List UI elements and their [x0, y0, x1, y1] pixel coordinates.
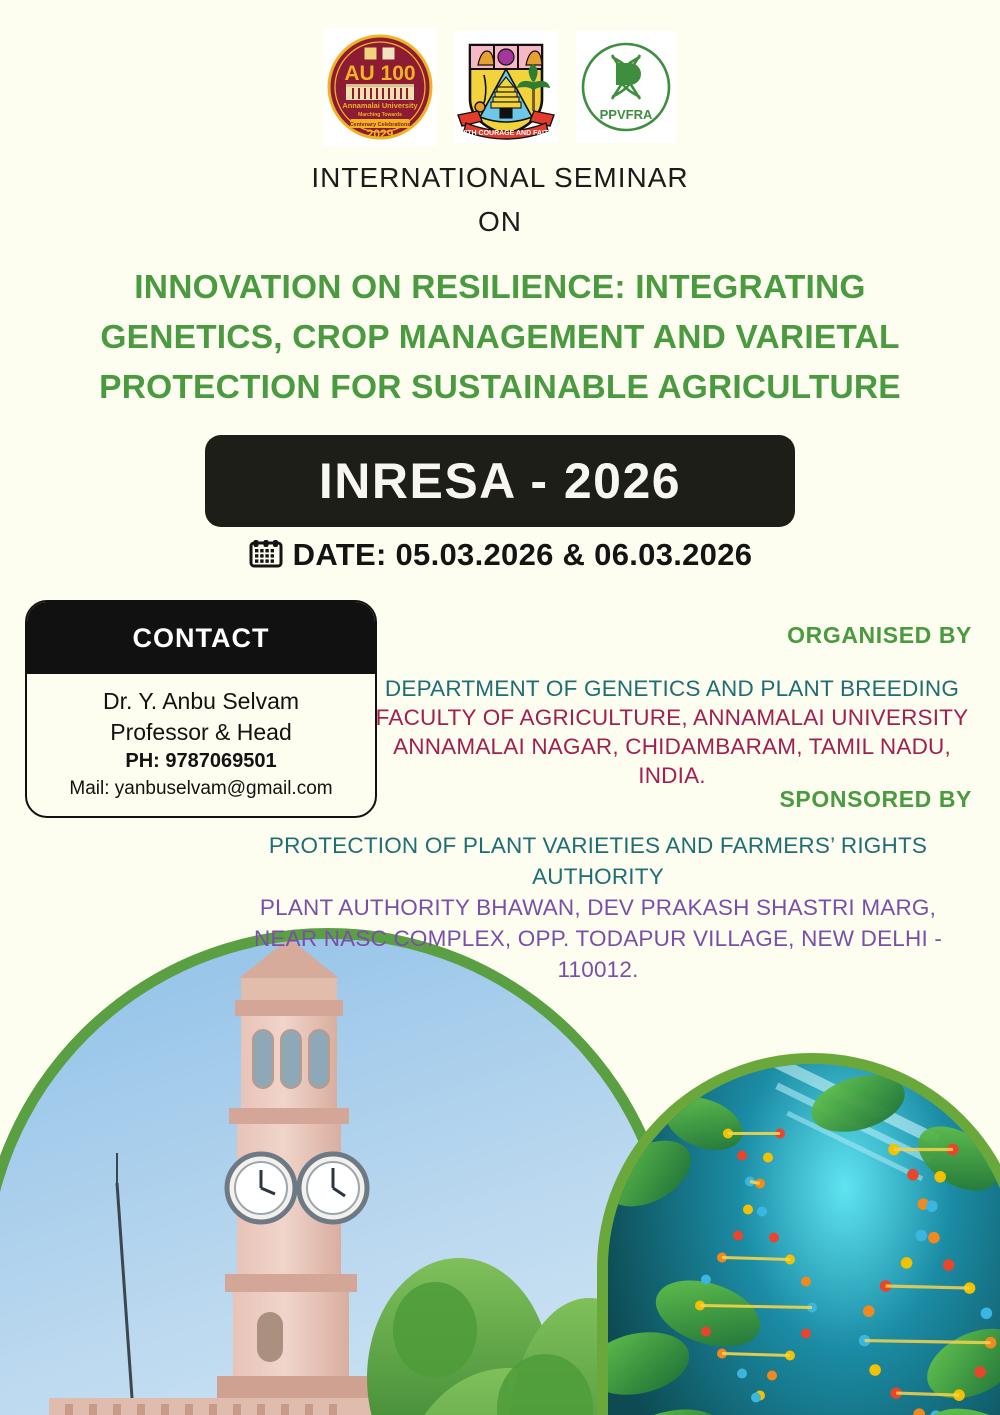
contact-person-name: Dr. Y. Anbu Selvam	[37, 686, 365, 717]
svg-text:WITH COURAGE AND FAITH: WITH COURAGE AND FAITH	[459, 130, 554, 137]
au-100-centenary-seal-icon: AU 100 Annamalai University Marching Tow…	[324, 28, 436, 146]
sponsored-by-line-1: PROTECTION OF PLANT VARIETIES AND FARMER…	[218, 830, 978, 892]
contact-card: CONTACT Dr. Y. Anbu Selvam Professor & H…	[25, 600, 377, 818]
organised-by-block: DEPARTMENT OF GENETICS AND PLANT BREEDIN…	[372, 674, 972, 790]
logo-row: AU 100 Annamalai University Marching Tow…	[0, 28, 1000, 146]
date-text: DATE: 05.03.2026 & 06.03.2026	[293, 537, 753, 573]
contact-person-role: Professor & Head	[37, 717, 365, 748]
on-label: ON	[0, 206, 1000, 238]
svg-text:Annamalai University: Annamalai University	[342, 101, 418, 110]
seminar-poster: AU 100 Annamalai University Marching Tow…	[0, 0, 1000, 1415]
sponsored-by-heading: SPONSORED BY	[779, 786, 972, 813]
date-row: DATE: 05.03.2026 & 06.03.2026	[0, 534, 1000, 575]
contact-card-header: CONTACT	[27, 602, 375, 674]
organised-by-line-2: FACULTY OF AGRICULTURE, ANNAMALAI UNIVER…	[372, 703, 972, 732]
sponsored-by-line-3: NEAR NASC COMPLEX, OPP. TODAPUR VILLAGE,…	[218, 923, 978, 985]
svg-text:AU 100: AU 100	[344, 62, 415, 85]
organised-by-line-3: ANNAMALAI NAGAR, CHIDAMBARAM, TAMIL NADU…	[372, 732, 972, 790]
calendar-icon	[248, 534, 284, 575]
contact-heading: CONTACT	[133, 623, 270, 654]
svg-text:2029: 2029	[367, 127, 394, 141]
svg-text:PPVFRA: PPVFRA	[600, 107, 653, 122]
contact-phone[interactable]: PH: 9787069501	[37, 748, 365, 775]
sponsored-by-line-2: PLANT AUTHORITY BHAWAN, DEV PRAKASH SHAS…	[218, 892, 978, 923]
dna-helix-plants-photo	[597, 1053, 1000, 1415]
acronym-banner: INRESA - 2026	[205, 435, 795, 527]
page-title: INNOVATION ON RESILIENCE: INTEGRATING GE…	[60, 263, 940, 413]
ppvfra-logo-icon: PPVFRA	[576, 31, 676, 143]
annamalai-university-clock-tower-photo	[0, 928, 678, 1415]
contact-card-body: Dr. Y. Anbu Selvam Professor & Head PH: …	[27, 674, 375, 816]
annamalai-university-crest-icon: WITH COURAGE AND FAITH	[454, 31, 558, 143]
photo-collage	[0, 918, 1000, 1415]
organised-by-heading: ORGANISED BY	[787, 622, 972, 649]
organised-by-line-1: DEPARTMENT OF GENETICS AND PLANT BREEDIN…	[372, 674, 972, 703]
contact-email[interactable]: Mail: yanbuselvam@gmail.com	[37, 775, 365, 802]
acronym-text: INRESA - 2026	[319, 452, 681, 510]
seminar-label: INTERNATIONAL SEMINAR	[0, 162, 1000, 194]
svg-text:Marching Towards: Marching Towards	[358, 112, 402, 118]
sponsored-by-block: PROTECTION OF PLANT VARIETIES AND FARMER…	[218, 830, 978, 985]
